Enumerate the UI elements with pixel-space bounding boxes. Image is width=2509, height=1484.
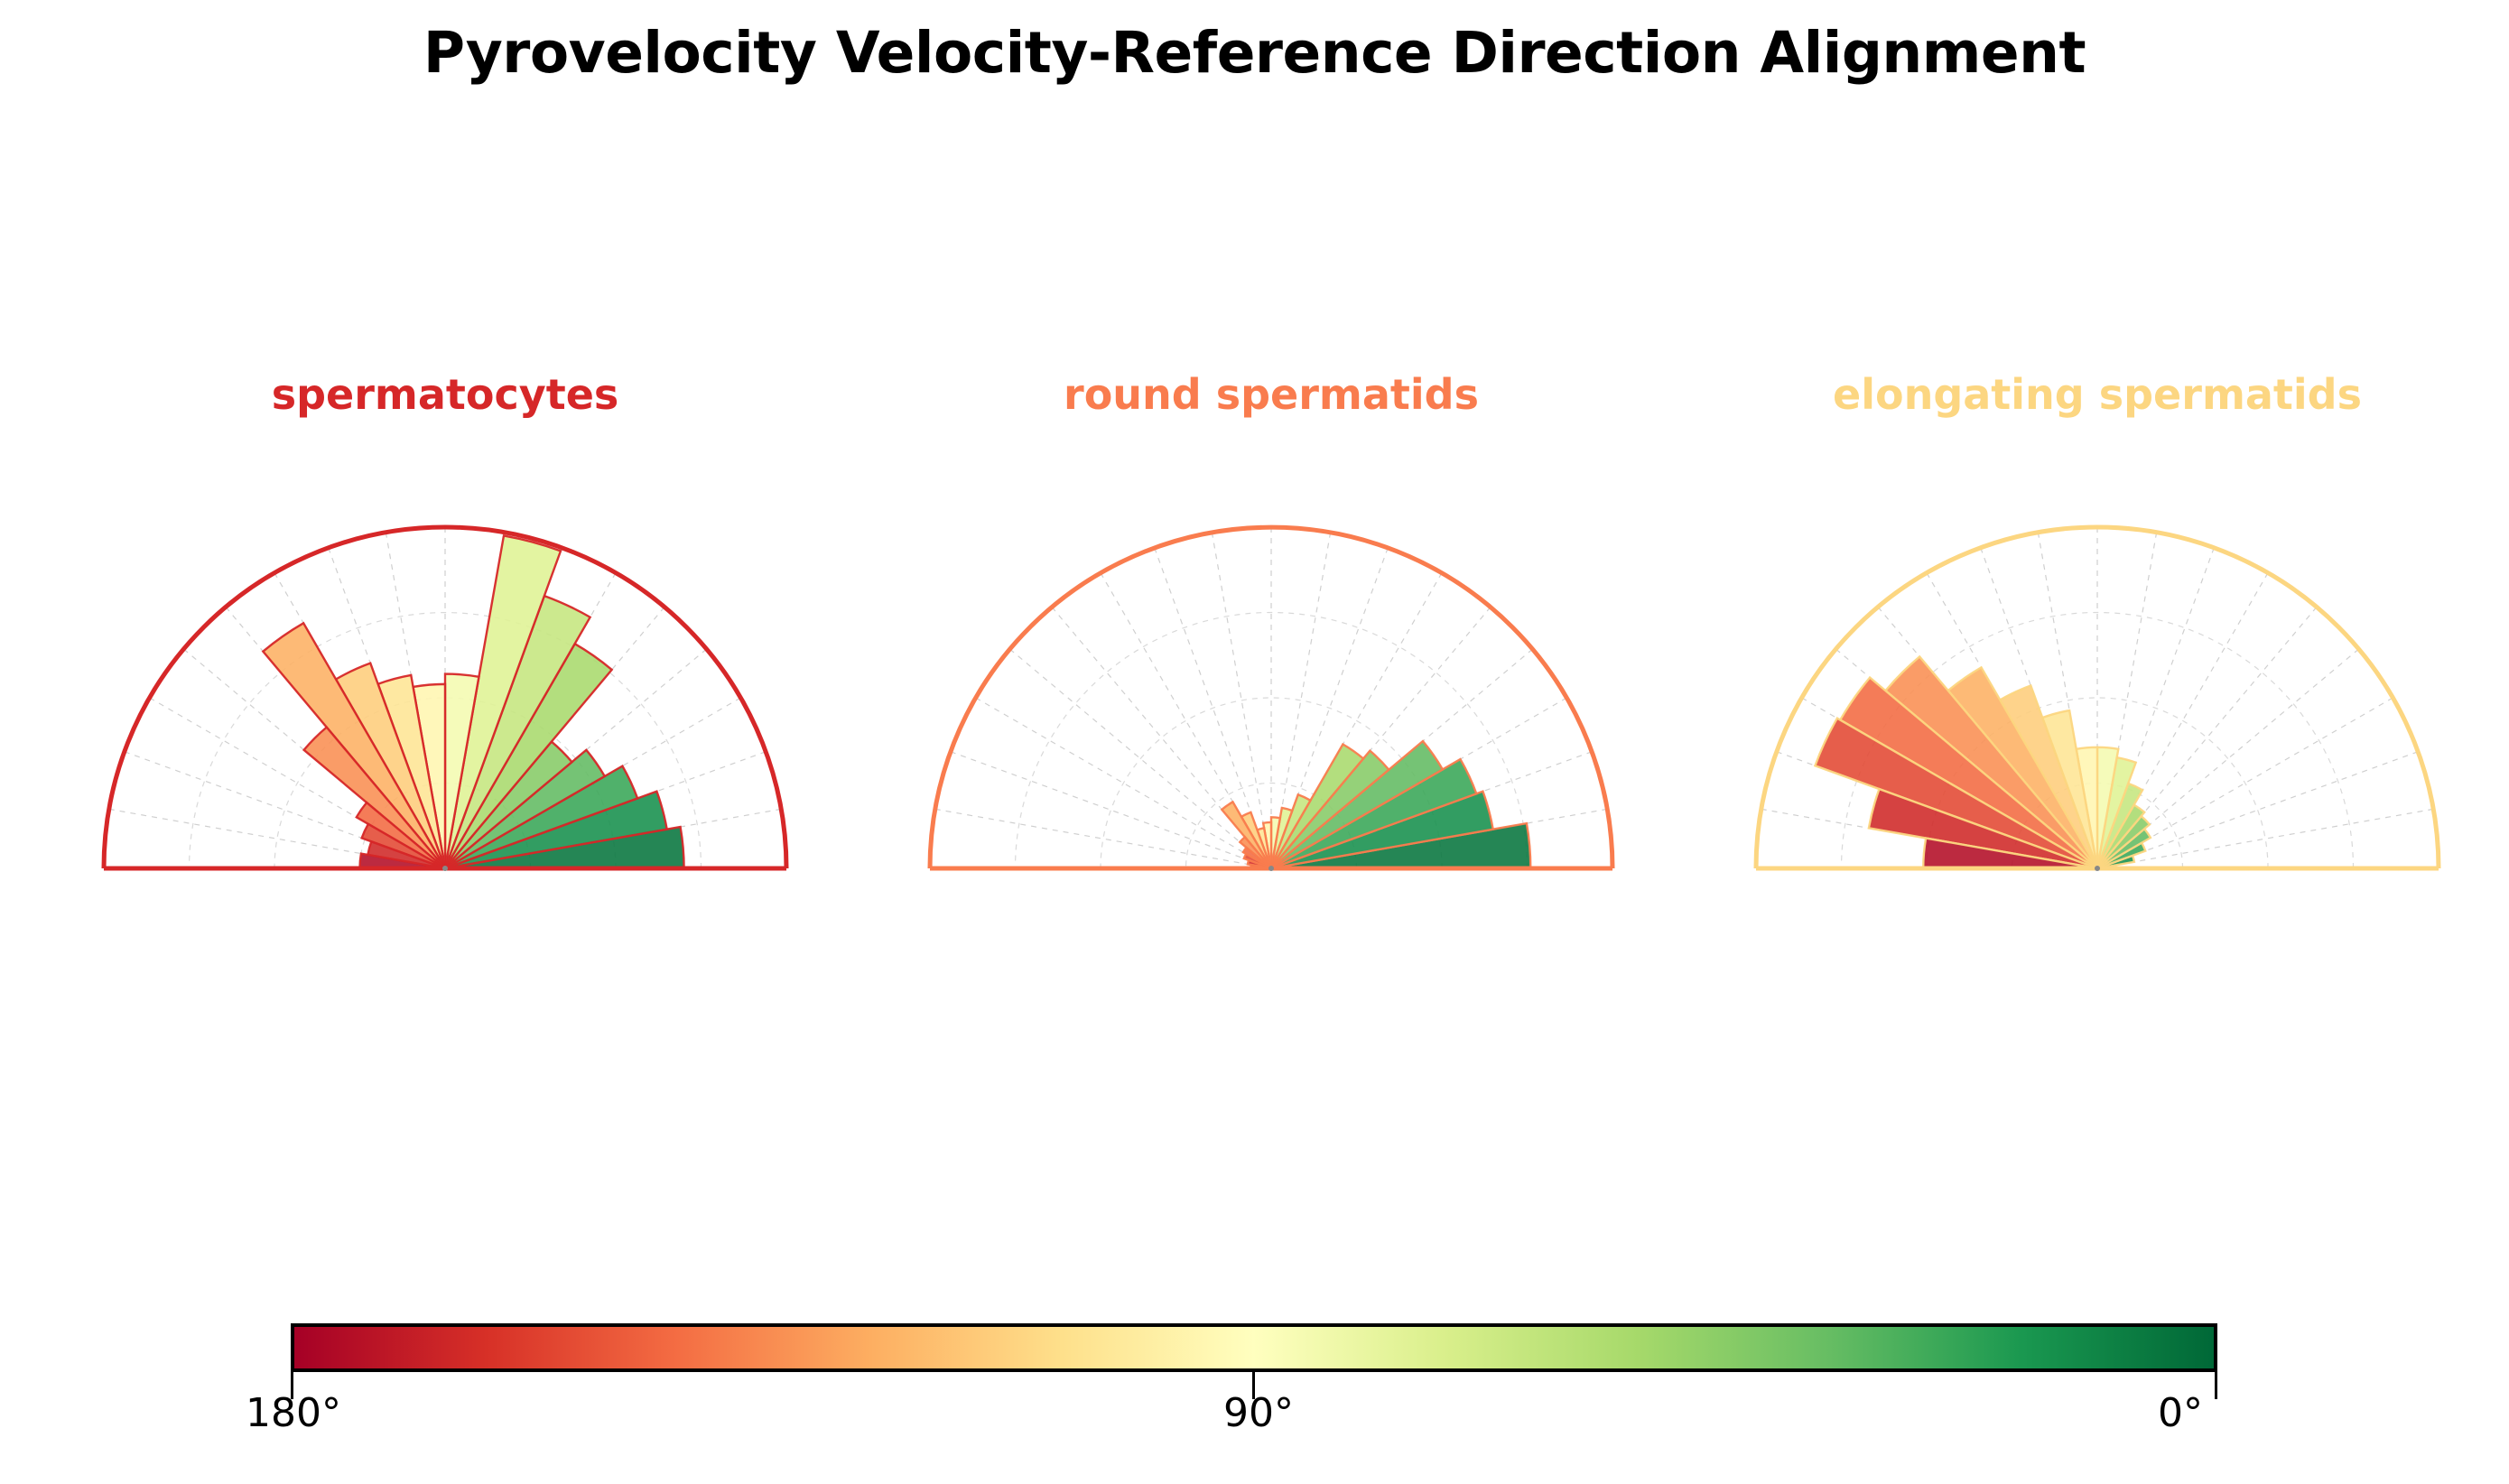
colorbar xyxy=(291,1323,2217,1372)
colorbar-tick-right xyxy=(2215,1372,2217,1399)
rose-wedge xyxy=(378,675,445,868)
rose-bars-3 xyxy=(1815,656,2151,868)
rose-wedge xyxy=(1240,837,1271,868)
polar-grid-3 xyxy=(1756,527,2439,868)
rose-wedge xyxy=(2097,843,2145,868)
rose-wedge xyxy=(1948,667,2097,868)
rose-chart-1 xyxy=(0,0,2509,1484)
rose-wedge xyxy=(304,728,445,868)
rose-wedge xyxy=(1250,865,1271,868)
colorbar-label-90: 90° xyxy=(1223,1390,1294,1436)
rose-wedge xyxy=(1271,792,1493,868)
rose-wedge xyxy=(2042,710,2097,868)
figure-canvas: Pyrovelocity Velocity-Reference Directio… xyxy=(0,0,2509,1484)
rose-wedge xyxy=(2097,829,2151,868)
polar-spine-1 xyxy=(104,527,786,868)
rose-panel-title-3: elongating spermatids xyxy=(1556,370,2509,419)
rose-chart-2 xyxy=(0,0,2509,1484)
rose-wedge xyxy=(2097,856,2134,868)
rose-wedge xyxy=(1885,656,2097,868)
rose-wedge xyxy=(1241,812,1271,868)
rose-bars-2 xyxy=(1222,741,1530,868)
rose-wedge xyxy=(2097,784,2142,868)
rose-wedge xyxy=(1815,719,2097,868)
rose-panel-3: elongating spermatids xyxy=(0,0,2509,1484)
rose-wedge xyxy=(2077,747,2097,868)
rose-bars-1 xyxy=(263,535,683,868)
rose-wedge xyxy=(362,824,445,868)
colorbar-gradient xyxy=(291,1323,2217,1372)
rose-wedge xyxy=(1243,848,1271,868)
rose-wedge xyxy=(2097,866,2113,868)
rose-wedge xyxy=(445,742,571,868)
rose-wedge xyxy=(1244,854,1271,868)
polar-origin-marker xyxy=(1268,866,1274,871)
rose-wedge xyxy=(2000,686,2097,868)
polar-spine-2 xyxy=(930,527,1612,868)
rose-wedge xyxy=(445,674,479,868)
rose-wedge xyxy=(1222,802,1271,868)
rose-wedge xyxy=(445,596,590,868)
rose-panel-title-2: round spermatids xyxy=(729,370,1813,419)
rose-wedge xyxy=(357,802,445,868)
rose-panel-title-1: spermatocytes xyxy=(0,370,987,419)
polar-origin-marker xyxy=(442,866,448,871)
rose-wedge xyxy=(360,854,446,868)
rose-wedge xyxy=(445,535,561,868)
rose-wedge xyxy=(445,750,605,868)
rose-wedge xyxy=(1271,741,1443,868)
rose-wedge xyxy=(1923,839,2097,868)
rose-wedge xyxy=(1840,678,2097,868)
rose-wedge xyxy=(2097,747,2118,868)
rose-wedge xyxy=(1271,759,1476,868)
polar-spine-3 xyxy=(1756,527,2439,868)
rose-wedge xyxy=(1263,822,1271,868)
polar-grid-2 xyxy=(930,527,1612,868)
rose-wedge xyxy=(1257,828,1271,868)
page-title: Pyrovelocity Velocity-Reference Directio… xyxy=(0,20,2509,86)
colorbar-label-0: 0° xyxy=(2158,1390,2203,1436)
rose-wedge xyxy=(1271,751,1389,868)
polar-grid-1 xyxy=(104,527,786,868)
rose-chart-3 xyxy=(0,0,2509,1484)
rose-wedge xyxy=(263,623,445,868)
rose-wedge xyxy=(445,644,612,868)
rose-wedge xyxy=(1248,860,1271,868)
rose-wedge xyxy=(1271,794,1310,868)
rose-wedge xyxy=(336,663,445,868)
rose-wedge xyxy=(2097,816,2150,868)
colorbar-label-180: 180° xyxy=(246,1390,341,1436)
rose-wedge xyxy=(445,827,684,868)
rose-wedge xyxy=(1271,745,1363,868)
rose-wedge xyxy=(2097,757,2136,868)
rose-wedge xyxy=(445,792,667,868)
rose-panel-1: spermatocytes xyxy=(0,0,2509,1484)
rose-panel-2: round spermatids xyxy=(0,0,2509,1484)
rose-wedge xyxy=(414,684,445,868)
rose-wedge xyxy=(1869,789,2097,868)
rose-wedge xyxy=(445,766,637,868)
rose-wedge xyxy=(1271,808,1292,868)
rose-wedge xyxy=(1271,817,1280,868)
rose-wedge xyxy=(367,841,445,868)
rose-wedge xyxy=(2097,805,2144,868)
polar-origin-marker xyxy=(2095,866,2100,871)
rose-wedge xyxy=(1271,823,1530,868)
